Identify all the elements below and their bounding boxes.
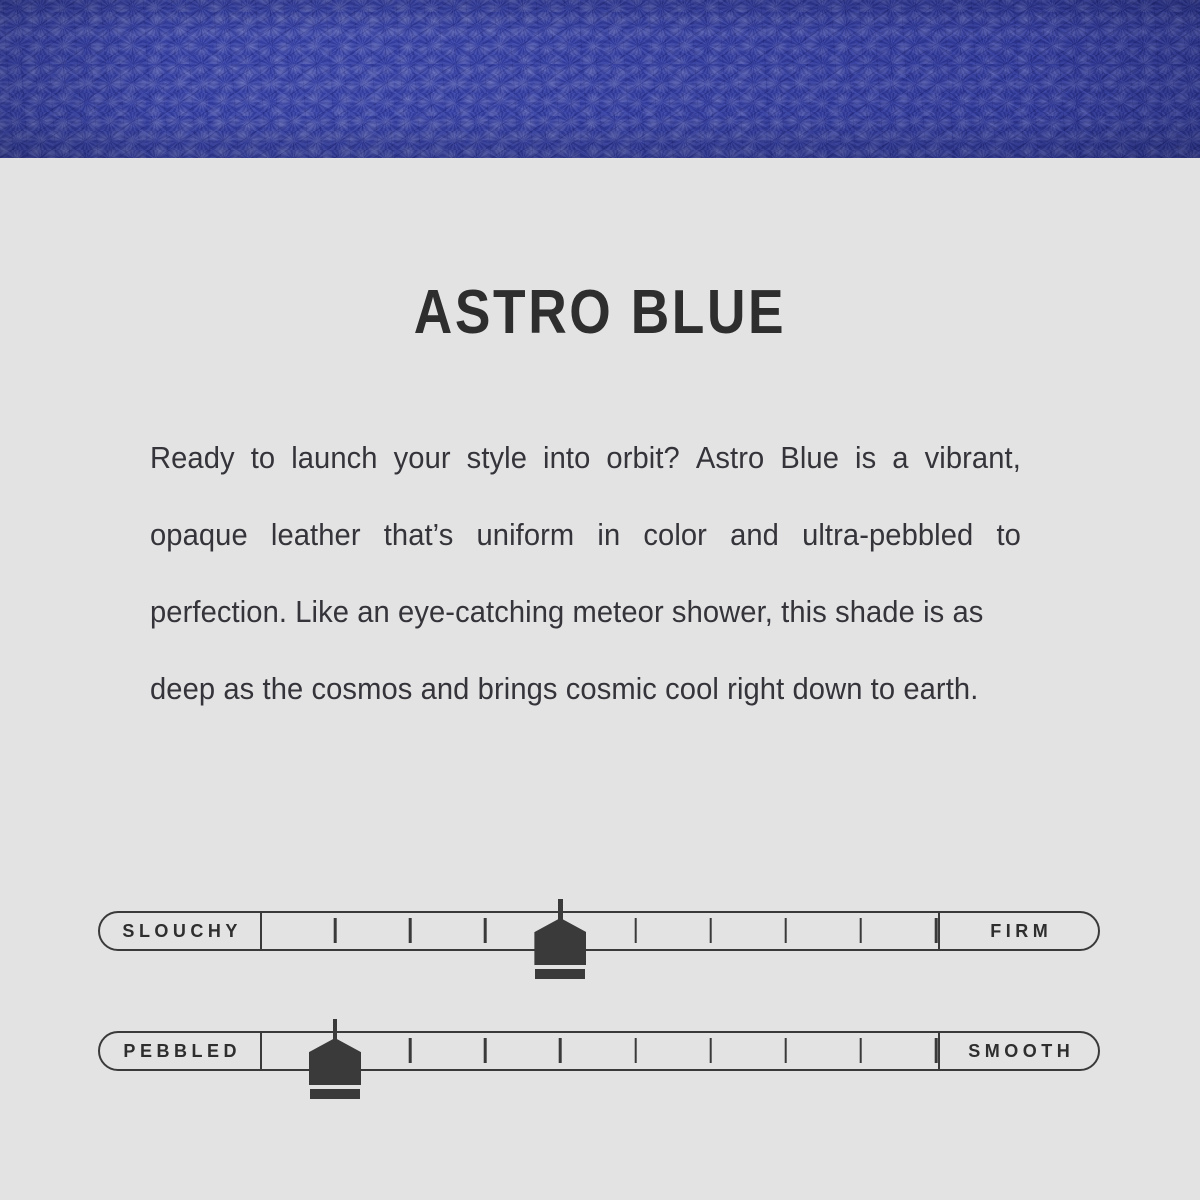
- slider-left-label-pebbled: PEBBLED: [100, 1033, 262, 1069]
- slider-tick: [709, 1038, 712, 1063]
- word: Blue: [780, 420, 839, 497]
- slider-tick: [484, 918, 487, 943]
- slider-track-slouchy-firm[interactable]: [262, 913, 938, 949]
- word: your: [394, 420, 451, 497]
- slider-tick: [860, 918, 863, 943]
- slider-tick: [409, 918, 412, 943]
- leather-swatch-band: [0, 0, 1200, 158]
- slider-left-label-slouchy: SLOUCHY: [100, 913, 262, 949]
- slider-tick: [935, 918, 938, 943]
- slider-tick: [709, 918, 712, 943]
- word: into: [543, 420, 590, 497]
- word: to: [996, 497, 1020, 574]
- word: to: [251, 420, 275, 497]
- page-title: ASTRO BLUE: [84, 280, 1116, 346]
- slider-tick: [484, 1038, 487, 1063]
- slider-marker-head-icon: [534, 918, 586, 965]
- word: opaque: [150, 497, 248, 574]
- description-line-1: Ready to launch your style into orbit? A…: [150, 420, 1021, 497]
- slider-tick: [634, 918, 637, 943]
- word: is: [855, 420, 876, 497]
- word: that’s: [384, 497, 454, 574]
- slider-tick: [409, 1038, 412, 1063]
- word: vibrant,: [925, 420, 1021, 497]
- slider-tick: [634, 1038, 637, 1063]
- slider-track-pebbled-smooth[interactable]: [262, 1033, 938, 1069]
- description-line-4: deep as the cosmos and brings cosmic coo…: [150, 651, 1021, 728]
- description-line-3: perfection. Like an eye-catching meteor …: [150, 574, 1021, 651]
- word: style: [467, 420, 527, 497]
- slider-tick: [935, 1038, 938, 1063]
- content-panel: ASTRO BLUE Ready to launch your style in…: [0, 158, 1200, 1200]
- slider-right-label-firm: FIRM: [938, 913, 1098, 949]
- word: Astro: [696, 420, 764, 497]
- slider-tick: [784, 918, 787, 943]
- word: orbit?: [606, 420, 679, 497]
- word: launch: [291, 420, 377, 497]
- slider-right-label-smooth: SMOOTH: [938, 1033, 1098, 1069]
- word: a: [892, 420, 908, 497]
- word: color: [643, 497, 707, 574]
- word: ultra-pebbled: [802, 497, 973, 574]
- leather-grain-overlay: [0, 0, 1200, 158]
- slider-slouchy-firm[interactable]: SLOUCHY FIRM: [98, 911, 1100, 951]
- slider-marker-base: [310, 1089, 360, 1099]
- word: and: [730, 497, 779, 574]
- word: Ready: [150, 420, 235, 497]
- slider-tick: [334, 918, 337, 943]
- description-line-2: opaque leather that’s uniform in color a…: [150, 497, 1021, 574]
- slider-marker-stem: [333, 1019, 337, 1045]
- slider-marker-base: [535, 969, 585, 979]
- slider-marker-stem: [558, 899, 562, 925]
- word: in: [597, 497, 620, 574]
- description-block: Ready to launch your style into orbit? A…: [150, 420, 1062, 728]
- slider-pebbled-smooth[interactable]: PEBBLED SMOOTH: [98, 1031, 1100, 1071]
- slider-marker-head-icon: [309, 1038, 361, 1085]
- slider-tick: [784, 1038, 787, 1063]
- word: uniform: [476, 497, 574, 574]
- slider-tick: [860, 1038, 863, 1063]
- word: leather: [271, 497, 361, 574]
- slider-tick: [559, 1038, 562, 1063]
